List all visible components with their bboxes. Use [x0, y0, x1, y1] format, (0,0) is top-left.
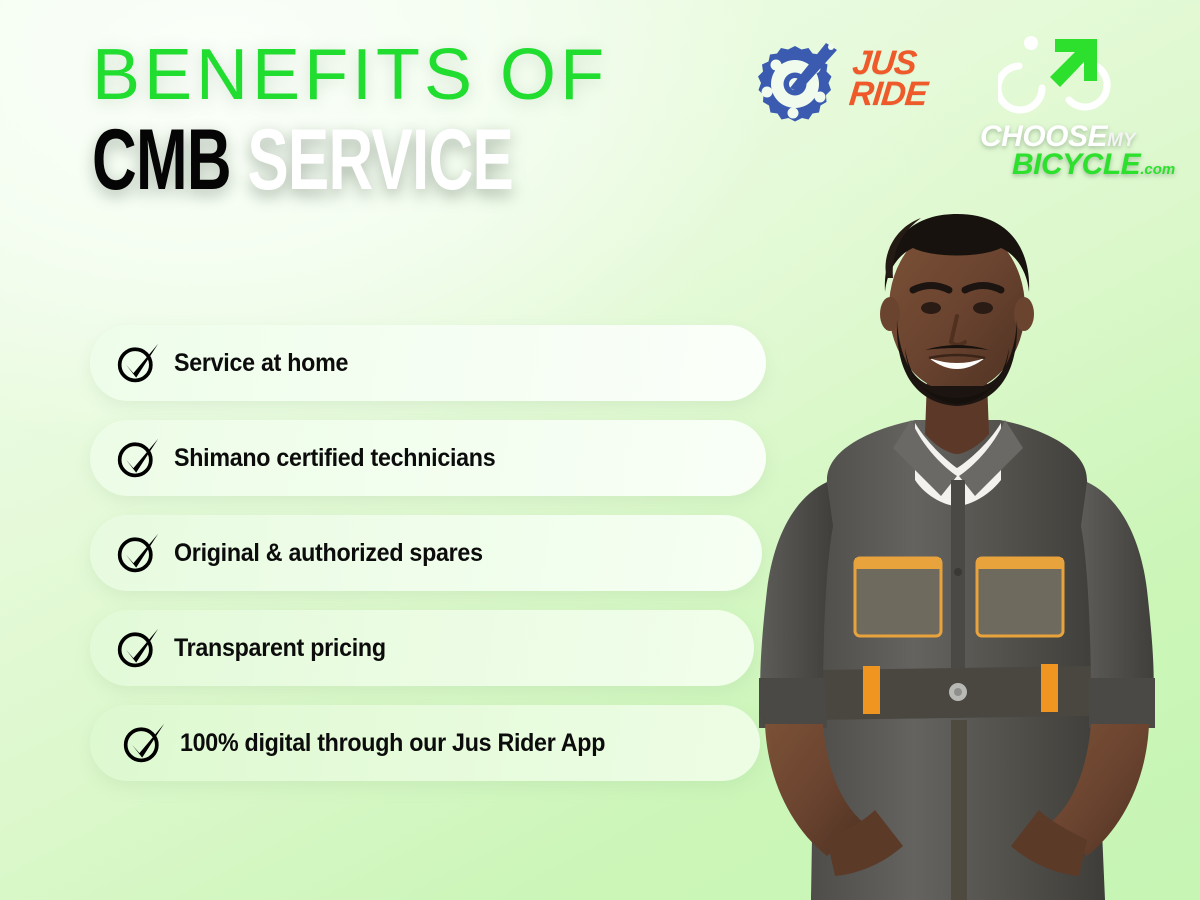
check-circle-icon: [122, 721, 166, 765]
check-circle-icon: [116, 436, 160, 480]
bicycle-text: BICYCLE.com: [1012, 148, 1175, 182]
bicycle-arrow-icon: [998, 30, 1128, 118]
page-title: BENEFITS OF CMB SERVICE: [92, 42, 677, 202]
check-circle-icon: [116, 341, 160, 385]
benefit-pill-5[interactable]: 100% digital through our Jus Rider App: [90, 705, 760, 781]
heading-line-1: BENEFITS OF: [92, 42, 677, 108]
heading-line-2: CMB SERVICE: [92, 120, 513, 202]
jus-ride-line-2: RIDE: [848, 79, 929, 110]
jus-ride-logo[interactable]: JUS RIDE: [743, 36, 943, 151]
benefits-list: Service at home Shimano certified techni…: [90, 325, 780, 800]
jus-ride-wordmark: JUS RIDE: [848, 48, 932, 111]
check-circle-icon: [116, 626, 160, 670]
mechanic-photo: [715, 180, 1200, 900]
dotcom-word: .com: [1140, 161, 1175, 178]
logo-group: JUS RIDE CHOOSEMY BICYCLE.com: [735, 28, 1185, 168]
chainring-crank-icon: [743, 40, 847, 144]
benefit-label: Service at home: [174, 349, 348, 378]
heading-cmb: CMB: [92, 112, 231, 208]
benefit-label: Shimano certified technicians: [174, 444, 495, 473]
bicycle-word: BICYCLE: [1012, 148, 1140, 181]
benefit-label: Original & authorized spares: [174, 539, 483, 568]
choosemybicycle-logo[interactable]: CHOOSEMY BICYCLE.com: [980, 28, 1180, 168]
poster-canvas: BENEFITS OF CMB SERVICE: [0, 0, 1200, 900]
check-circle-icon: [116, 531, 160, 575]
heading-service: SERVICE: [247, 112, 513, 208]
benefit-pill-4[interactable]: Transparent pricing: [90, 610, 754, 686]
benefit-pill-3[interactable]: Original & authorized spares: [90, 515, 762, 591]
benefit-label: Transparent pricing: [174, 634, 386, 663]
benefit-label: 100% digital through our Jus Rider App: [180, 729, 605, 758]
benefit-pill-2[interactable]: Shimano certified technicians: [90, 420, 766, 496]
benefit-pill-1[interactable]: Service at home: [90, 325, 766, 401]
